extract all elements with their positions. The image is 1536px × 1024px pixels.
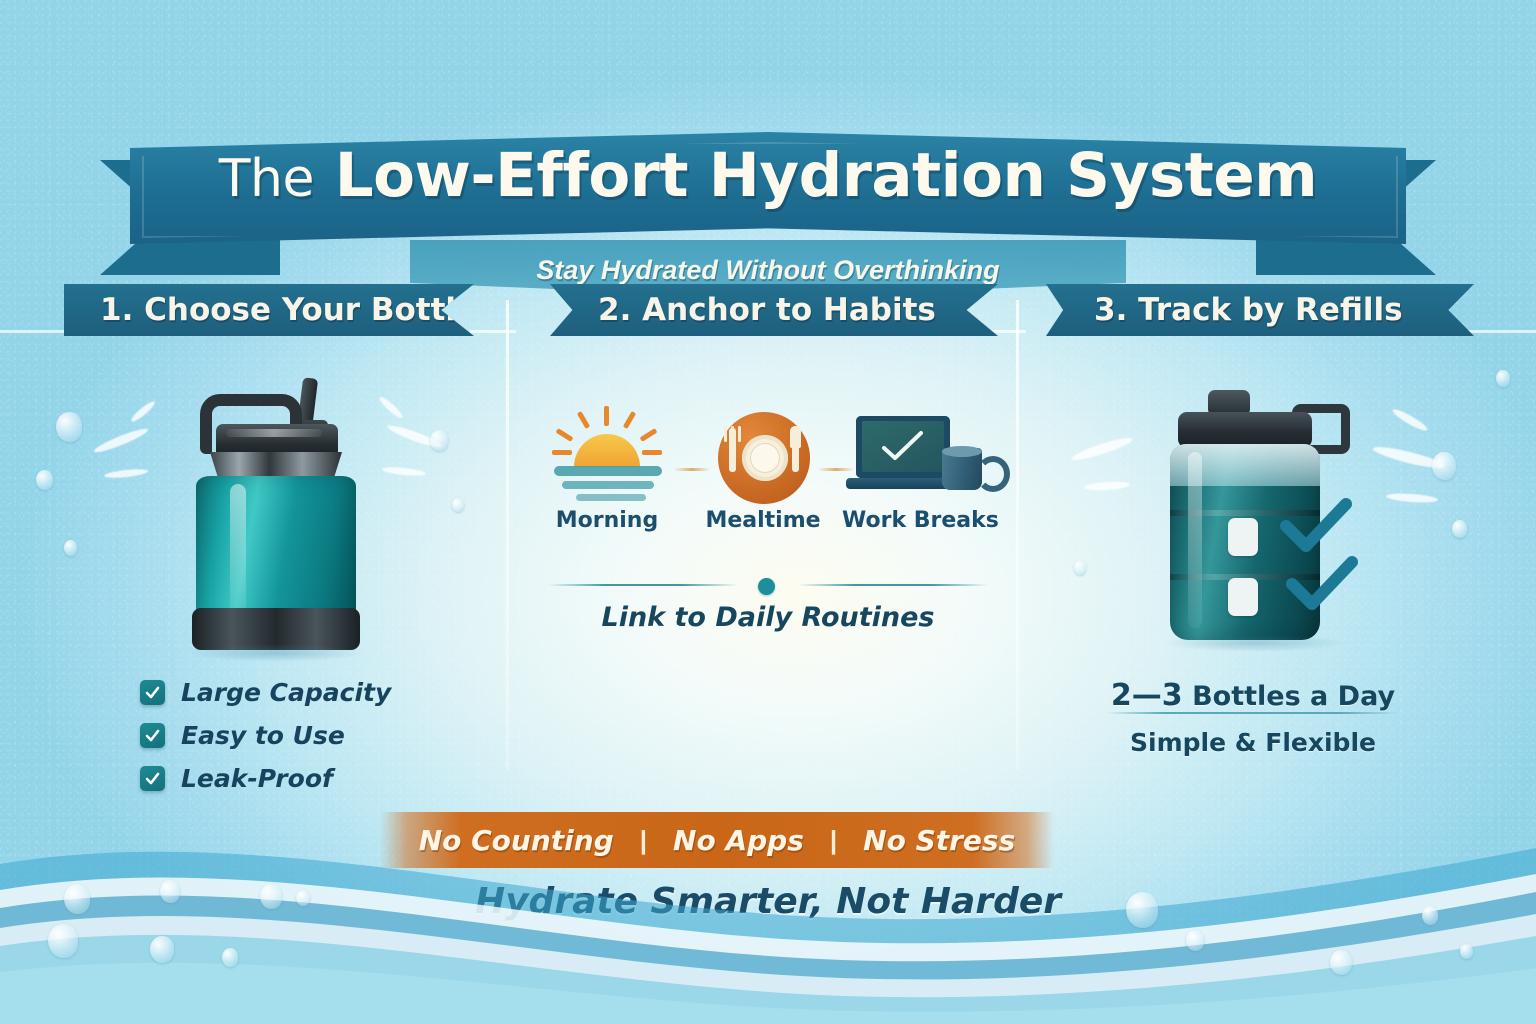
divider-line-left	[548, 584, 738, 586]
fork-tine	[724, 426, 727, 442]
water-droplet	[1330, 950, 1352, 975]
refill-stat: 2—3 Bottles a Day	[1028, 678, 1478, 713]
benefits-bar: No Counting | No Apps | No Stress	[380, 812, 1054, 868]
page-subtitle: Stay Hydrated Without Overthinking	[0, 255, 1536, 286]
bottle-body	[196, 476, 356, 628]
section-header-3: 3. Track by Refills	[1046, 284, 1474, 336]
refill-stat-text: Bottles a Day	[1183, 681, 1395, 712]
infographic-poster: The Low-Effort Hydration System Stay Hyd…	[0, 0, 1536, 1024]
section-title-1: 1. Choose Your Bottle	[100, 292, 477, 328]
sun-ray	[640, 428, 658, 442]
water-droplet	[1186, 930, 1204, 951]
laptop-screen	[862, 421, 944, 472]
water-wave	[576, 494, 646, 501]
wave-white-2	[0, 914, 1536, 1024]
title-banner: The Low-Effort Hydration System Stay Hyd…	[0, 64, 1536, 239]
fork-tine	[738, 426, 741, 442]
bottle-shadow	[1162, 634, 1348, 652]
divider-line-right	[798, 584, 988, 586]
sun-ray	[642, 450, 662, 455]
water-droplet	[48, 924, 78, 958]
habit-work-breaks[interactable]: Work Breaks	[842, 404, 992, 533]
water-wave	[562, 481, 654, 489]
checkmark-icon	[880, 430, 926, 464]
check-box-icon	[140, 680, 165, 705]
mug-rim	[942, 446, 982, 457]
plate-center	[750, 443, 780, 473]
benefit-separator: |	[640, 825, 647, 856]
sun-ray	[623, 411, 636, 429]
check-box-icon	[140, 723, 165, 748]
sun-ray	[577, 411, 590, 429]
column-divider-2	[1016, 300, 1019, 770]
habit-mealtime[interactable]: Mealtime	[688, 404, 838, 533]
bottle-level-marker	[1228, 518, 1258, 556]
wave-back	[0, 848, 1536, 1024]
sun-ray	[556, 428, 574, 442]
plate-icon	[688, 404, 838, 508]
benefit-no-apps: No Apps	[673, 824, 804, 857]
list-item[interactable]: Leak-Proof	[140, 764, 470, 793]
check-box-icon	[140, 766, 165, 791]
benefit-separator: |	[830, 825, 837, 856]
check-label: Leak-Proof	[181, 764, 333, 793]
divider-dot-icon	[758, 578, 775, 595]
refill-check-icon-1	[1280, 498, 1352, 561]
wave-foam	[0, 963, 1536, 1024]
check-label: Large Capacity	[181, 678, 391, 707]
sun-ray	[604, 406, 609, 426]
routine-divider	[548, 578, 988, 592]
refill-check-icon-2	[1286, 556, 1358, 619]
water-droplet	[222, 948, 238, 967]
title-lead: The	[219, 149, 314, 209]
habit-label: Mealtime	[688, 508, 838, 533]
bottle-level-marker	[1228, 578, 1258, 616]
feature-checklist: Large Capacity Easy to Use Leak-Proof	[140, 678, 470, 807]
refill-stat-sub: Simple & Flexible	[1028, 728, 1478, 757]
sun-disc	[574, 434, 640, 467]
stat-underline	[1106, 712, 1398, 714]
title-main: Low-Effort Hydration System	[335, 140, 1318, 211]
knife-blade	[790, 426, 801, 448]
refill-stat-number: 2—3	[1111, 678, 1183, 713]
bottle-gloss-highlight	[1188, 452, 1202, 628]
bottle-cap	[1178, 412, 1312, 448]
water-wave	[554, 466, 662, 476]
section-header-1: 1. Choose Your Bottle	[64, 284, 474, 336]
section-title-2: 2. Anchor to Habits	[598, 292, 936, 328]
benefit-no-stress: No Stress	[863, 824, 1015, 857]
fork-tine	[731, 426, 734, 442]
check-label: Easy to Use	[181, 721, 345, 750]
sun-ray	[552, 450, 572, 455]
list-item[interactable]: Easy to Use	[140, 721, 470, 750]
bottle-illustration-teal-jug	[180, 372, 370, 662]
habit-icon-row: Morning Mealtime	[532, 404, 1004, 564]
habit-morning[interactable]: Morning	[532, 404, 682, 533]
bottle-shadow	[186, 644, 366, 662]
water-droplet	[1460, 944, 1473, 959]
habit-label: Work Breaks	[842, 508, 992, 533]
habit-label: Morning	[532, 508, 682, 533]
sunrise-icon	[532, 404, 682, 508]
section-title-3: 3. Track by Refills	[1094, 292, 1403, 328]
footer-tagline: Hydrate Smarter, Not Harder	[0, 881, 1536, 922]
laptop-icon	[842, 404, 992, 508]
water-droplet	[150, 936, 174, 963]
bottle-cap-highlight	[226, 429, 322, 437]
benefit-no-counting: No Counting	[419, 824, 614, 857]
page-title: The Low-Effort Hydration System	[0, 140, 1536, 211]
list-item[interactable]: Large Capacity	[140, 678, 470, 707]
wave-front	[0, 935, 1536, 1024]
routine-caption: Link to Daily Routines	[528, 602, 1008, 633]
section-header-2: 2. Anchor to Habits	[550, 284, 998, 336]
